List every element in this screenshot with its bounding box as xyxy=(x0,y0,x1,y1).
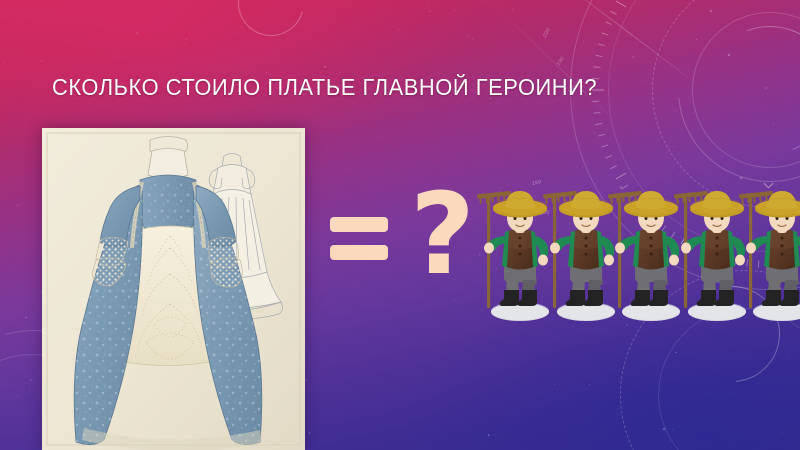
equation-group: ? xyxy=(330,198,475,278)
question-mark-symbol: ? xyxy=(410,192,475,278)
boot-right xyxy=(780,290,799,306)
vest-button xyxy=(519,237,522,240)
equals-sign-icon xyxy=(330,217,388,260)
boot-left xyxy=(696,290,715,306)
boot-left xyxy=(631,290,650,306)
vest-button xyxy=(650,253,653,256)
boot-right xyxy=(583,290,602,306)
vest-button xyxy=(519,253,522,256)
hand-left xyxy=(681,243,691,254)
slide-title: СКОЛЬКО СТОИЛО ПЛАТЬЕ ГЛАВНОЙ ГЕРОИНИ? xyxy=(52,74,597,100)
boot-left xyxy=(500,290,519,306)
gown-illustration-card xyxy=(42,128,305,450)
boot-left xyxy=(565,290,584,306)
dress-form xyxy=(148,137,188,179)
circle-decoration-top-left xyxy=(238,0,308,40)
vest-button xyxy=(715,245,718,248)
gown-illustration xyxy=(42,128,305,450)
hand-left xyxy=(550,243,560,254)
vest-button xyxy=(584,245,587,248)
hand-left xyxy=(484,243,494,254)
vest-button xyxy=(781,245,784,248)
vest-button xyxy=(715,237,718,240)
vest-button xyxy=(650,245,653,248)
boot-right xyxy=(649,290,668,306)
vest-button xyxy=(781,253,784,256)
vest-button xyxy=(584,237,587,240)
boot-left xyxy=(762,290,781,306)
peasant-figure-row xyxy=(474,176,800,326)
hand-left xyxy=(615,243,625,254)
vest-button xyxy=(715,253,718,256)
vest-button xyxy=(781,237,784,240)
boot-right xyxy=(714,290,733,306)
vest-button xyxy=(584,253,587,256)
presentation-slide: 200 190 180 160 150 СКОЛЬКО СТОИЛО ПЛАТЬ… xyxy=(0,0,800,450)
vest-button xyxy=(519,245,522,248)
boot-right xyxy=(518,290,537,306)
hand-left xyxy=(746,243,756,254)
peasant-figure-svg xyxy=(736,176,800,326)
vest-button xyxy=(650,237,653,240)
peasant-5 xyxy=(736,176,800,326)
